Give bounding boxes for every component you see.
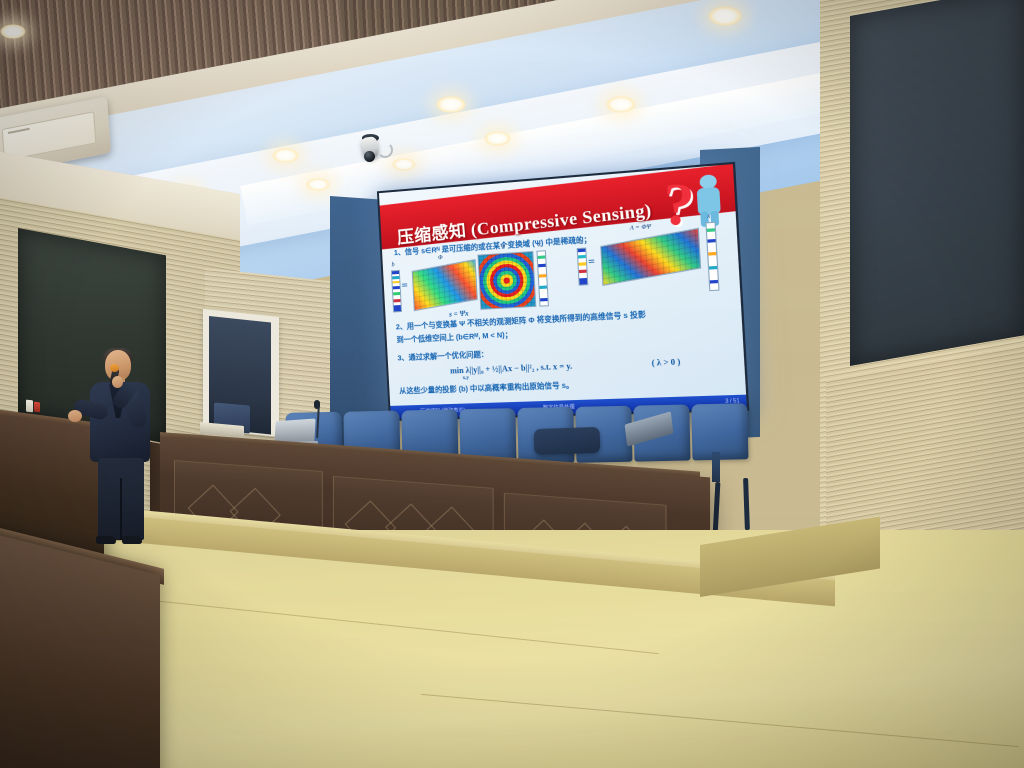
presenter-right-hand <box>112 376 123 388</box>
downlight-icon <box>272 148 299 163</box>
microphone-head-icon <box>314 400 320 409</box>
diagram-label-x-right: x <box>538 242 541 248</box>
diagram-label-b-right: b <box>578 239 582 245</box>
camera-lens-icon <box>364 151 375 162</box>
lectern-item[interactable] <box>26 400 33 413</box>
presenter-shoe <box>96 536 116 544</box>
equation-condition: ( λ > 0 ) <box>651 357 680 368</box>
diagram-label-psi: Ψ <box>501 245 506 251</box>
equation-subscript: x,y <box>463 376 470 381</box>
led-presentation-screen[interactable]: ? 压缩感知 (Compressive Sensing) 1、信号 s∈Rᴺ 是… <box>377 162 749 421</box>
diagram-label-b-left: b <box>391 262 394 268</box>
vector-b-right <box>577 248 589 286</box>
diagram-label-x-far-right: x <box>707 213 710 220</box>
downlight-icon <box>708 6 742 26</box>
downlight-icon <box>392 158 416 171</box>
downlight-icon <box>306 178 330 191</box>
bag-on-chair[interactable] <box>534 427 601 455</box>
diagram-label-phi: Φ <box>438 255 443 261</box>
equation-s-psi-x: s = Ψx <box>449 309 469 318</box>
matrix-psi <box>477 251 536 310</box>
chair-leg <box>743 478 750 530</box>
presenter <box>70 348 180 548</box>
downlight-icon <box>484 131 511 146</box>
floor-seam <box>421 694 1019 747</box>
equals-sign-1: = <box>401 279 408 291</box>
lecture-hall-photo: ? 压缩感知 (Compressive Sensing) 1、信号 s∈Rᴺ 是… <box>0 0 1024 768</box>
presenter-leg-split <box>120 478 122 540</box>
downlight-icon <box>436 96 466 113</box>
chair-leg <box>713 482 721 536</box>
acoustic-panel-right <box>850 0 1024 366</box>
presenter-left-hand <box>68 410 82 422</box>
microphone-windscreen-icon <box>110 364 119 372</box>
equals-sign-2: = <box>588 255 595 268</box>
downlight-icon <box>606 96 636 113</box>
camera-bracket <box>377 142 393 158</box>
downlight-icon <box>0 24 26 39</box>
dome-security-camera <box>358 132 392 170</box>
presenter-shoe <box>122 536 142 544</box>
chair-armrest <box>712 452 720 482</box>
floor-seam <box>141 599 658 654</box>
lectern-item[interactable] <box>34 402 40 413</box>
